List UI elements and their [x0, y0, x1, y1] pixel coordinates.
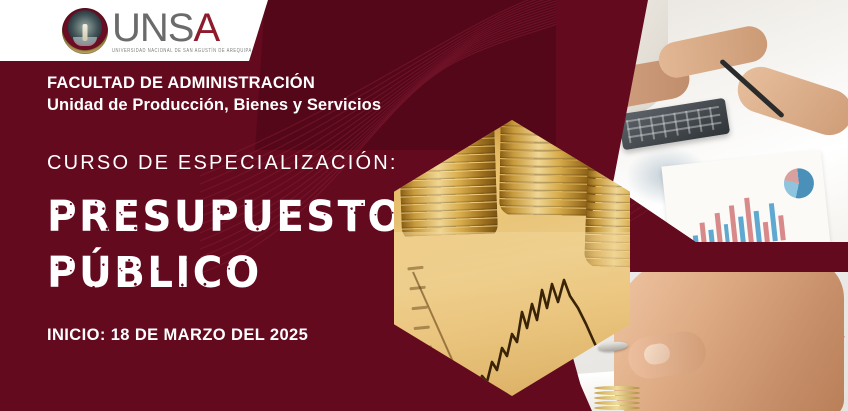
course-title-text-2: PÚBLICO	[47, 248, 262, 298]
logo-wordmark: UNSA	[112, 8, 252, 48]
logo-accent-letter: A	[193, 6, 219, 50]
photo-chart-document	[661, 150, 830, 262]
faculty-unit: Unidad de Producción, Bienes y Servicios	[47, 94, 381, 116]
course-title-line-1: PRESUPUESTO	[47, 196, 404, 238]
start-date: INICIO: 18 DE MARZO DEL 2025	[47, 326, 308, 345]
university-seal-icon	[62, 8, 108, 54]
logo-subtitle: UNIVERSIDAD NACIONAL DE SAN AGUSTÍN DE A…	[112, 49, 252, 54]
course-title: PRESUPUESTO PÚBLICO	[47, 196, 427, 294]
photo-hand-shape	[614, 258, 844, 411]
faculty-block: FACULTAD DE ADMINISTRACIÓN Unidad de Pro…	[47, 72, 381, 117]
faculty-name: FACULTAD DE ADMINISTRACIÓN	[47, 72, 381, 94]
course-title-line-2: PÚBLICO	[47, 252, 404, 294]
coin-stack-icon	[594, 386, 640, 411]
photo-hand-shape	[732, 61, 848, 141]
course-label: CURSO DE ESPECIALIZACIÓN:	[47, 152, 398, 175]
unsa-logo: UNSA UNIVERSIDAD NACIONAL DE SAN AGUSTÍN…	[62, 6, 252, 56]
logo-text-block: UNSA UNIVERSIDAD NACIONAL DE SAN AGUSTÍN…	[112, 8, 252, 53]
course-title-text-1: PRESUPUESTO	[47, 192, 404, 242]
bar-chart-icon	[673, 188, 786, 251]
pie-chart-icon	[782, 167, 815, 200]
course-promo-banner: UNSA UNIVERSIDAD NACIONAL DE SAN AGUSTÍN…	[0, 0, 848, 411]
